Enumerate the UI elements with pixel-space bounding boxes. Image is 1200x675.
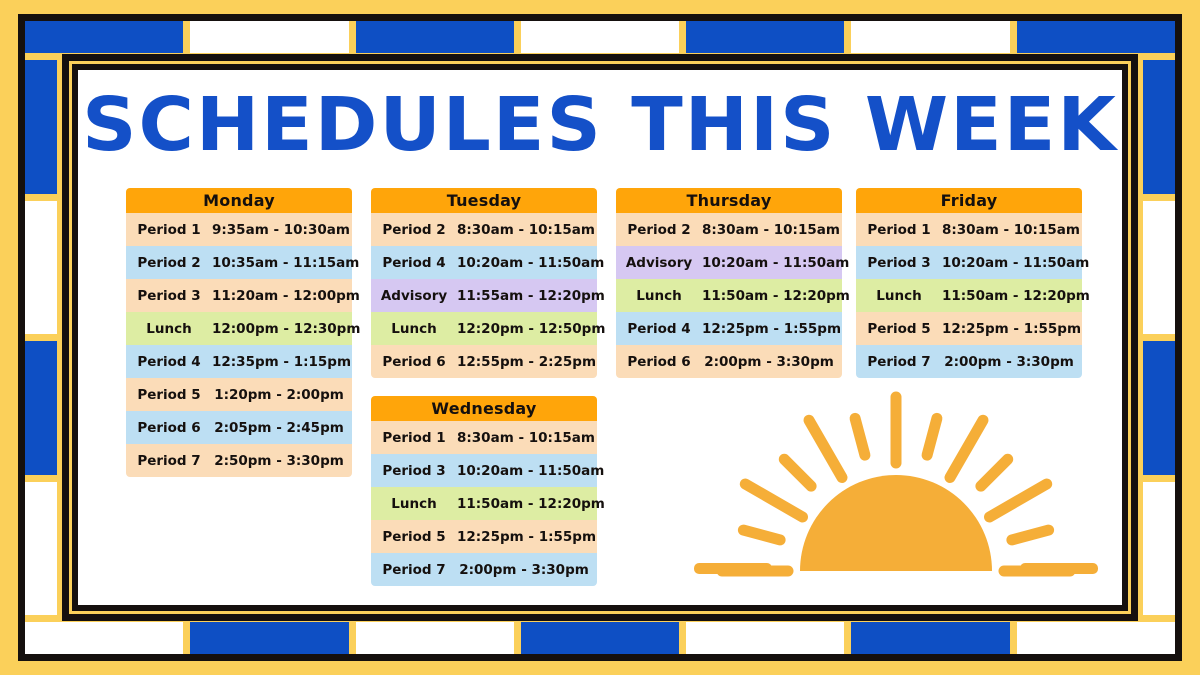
frame-segment-right-2 <box>1143 341 1175 475</box>
frame-segment-top-0 <box>25 21 183 53</box>
schedule-row: Advisory10:20am - 11:50am <box>616 246 842 279</box>
frame-segment-left-0 <box>25 60 57 194</box>
frame-segment-bottom-2 <box>356 622 514 654</box>
schedule-row: Lunch12:20pm - 12:50pm <box>371 312 597 345</box>
period-time: 11:55am - 12:20pm <box>457 288 611 304</box>
period-time: 2:00pm - 3:30pm <box>942 354 1082 370</box>
period-label: Period 1 <box>371 430 457 446</box>
period-label: Period 6 <box>616 354 702 370</box>
schedule-row: Period 18:30am - 10:15am <box>856 213 1082 246</box>
column-header-monday: Monday <box>126 188 352 213</box>
period-time: 10:20am - 11:50am <box>942 255 1095 271</box>
schedule-column-friday: FridayPeriod 18:30am - 10:15amPeriod 310… <box>856 188 1082 378</box>
period-label: Period 5 <box>371 529 457 545</box>
period-label: Period 3 <box>371 463 457 479</box>
period-time: 12:25pm - 1:55pm <box>457 529 602 545</box>
period-label: Lunch <box>371 321 457 337</box>
period-time: 10:20am - 11:50am <box>702 255 855 271</box>
period-time: 9:35am - 10:30am <box>212 222 356 238</box>
schedule-row: Period 72:00pm - 3:30pm <box>856 345 1082 378</box>
frame-segment-left-2 <box>25 341 57 475</box>
schedule-row: Period 18:30am - 10:15am <box>371 421 597 454</box>
schedule-row: Period 72:00pm - 3:30pm <box>371 553 597 586</box>
period-label: Period 5 <box>856 321 942 337</box>
frame-segment-top-5 <box>851 21 1009 53</box>
schedule-column-monday: MondayPeriod 19:35am - 10:30amPeriod 210… <box>126 188 352 477</box>
schedule-row: Period 612:55pm - 2:25pm <box>371 345 597 378</box>
period-label: Period 7 <box>126 453 212 469</box>
period-time: 11:20am - 12:00pm <box>212 288 366 304</box>
period-time: 11:50am - 12:20pm <box>457 496 611 512</box>
frame-segment-bottom-0 <box>25 622 183 654</box>
schedule-row: Period 28:30am - 10:15am <box>371 213 597 246</box>
period-label: Period 2 <box>371 222 457 238</box>
frame-segment-bottom-6 <box>1017 622 1175 654</box>
period-time: 2:05pm - 2:45pm <box>212 420 352 436</box>
column-header-tuesday: Tuesday <box>371 188 597 213</box>
period-time: 1:20pm - 2:00pm <box>212 387 352 403</box>
period-label: Period 2 <box>616 222 702 238</box>
period-time: 12:35pm - 1:15pm <box>212 354 357 370</box>
schedule-row: Period 512:25pm - 1:55pm <box>371 520 597 553</box>
period-time: 2:50pm - 3:30pm <box>212 453 352 469</box>
schedule-row: Advisory11:55am - 12:20pm <box>371 279 597 312</box>
period-time: 12:20pm - 12:50pm <box>457 321 611 337</box>
frame-segment-top-2 <box>356 21 514 53</box>
frame-segment-right-3 <box>1143 482 1175 616</box>
column-header-friday: Friday <box>856 188 1082 213</box>
period-time: 12:55pm - 2:25pm <box>457 354 602 370</box>
period-time: 12:25pm - 1:55pm <box>702 321 847 337</box>
period-label: Lunch <box>616 288 702 304</box>
period-time: 8:30am - 10:15am <box>457 222 601 238</box>
schedule-row: Period 51:20pm - 2:00pm <box>126 378 352 411</box>
period-label: Period 2 <box>126 255 212 271</box>
period-label: Period 1 <box>856 222 942 238</box>
period-label: Period 1 <box>126 222 212 238</box>
period-label: Lunch <box>856 288 942 304</box>
period-label: Period 7 <box>371 562 457 578</box>
frame-segment-top-4 <box>686 21 844 53</box>
period-label: Advisory <box>616 255 702 271</box>
period-label: Period 5 <box>126 387 212 403</box>
schedule-row: Period 310:20am - 11:50am <box>371 454 597 487</box>
column-header-wednesday: Wednesday <box>371 396 597 421</box>
period-time: 12:25pm - 1:55pm <box>942 321 1087 337</box>
schedule-row: Period 310:20am - 11:50am <box>856 246 1082 279</box>
frame-segment-top-1 <box>190 21 348 53</box>
period-label: Period 6 <box>371 354 457 370</box>
period-label: Period 4 <box>371 255 457 271</box>
schedule-row: Lunch11:50am - 12:20pm <box>856 279 1082 312</box>
period-time: 11:50am - 12:20pm <box>942 288 1096 304</box>
period-label: Period 4 <box>126 354 212 370</box>
frame-segment-bottom-5 <box>851 622 1009 654</box>
period-label: Advisory <box>371 288 457 304</box>
schedule-row: Lunch11:50am - 12:20pm <box>616 279 842 312</box>
schedule-board: MondayPeriod 19:35am - 10:30amPeriod 210… <box>126 188 1082 597</box>
poster-canvas: SCHEDULES THIS WEEK MondayPeriod 19:35am… <box>0 0 1200 675</box>
schedule-column-thursday: ThursdayPeriod 28:30am - 10:15amAdvisory… <box>616 188 842 378</box>
schedule-row: Period 210:35am - 11:15am <box>126 246 352 279</box>
period-time: 2:00pm - 3:30pm <box>457 562 597 578</box>
period-label: Lunch <box>126 321 212 337</box>
frame-segment-left-1 <box>25 201 57 335</box>
schedule-row: Period 62:00pm - 3:30pm <box>616 345 842 378</box>
period-time: 8:30am - 10:15am <box>942 222 1086 238</box>
schedule-row: Period 512:25pm - 1:55pm <box>856 312 1082 345</box>
schedule-row: Lunch12:00pm - 12:30pm <box>126 312 352 345</box>
frame-segment-bottom-1 <box>190 622 348 654</box>
period-time: 10:20am - 11:50am <box>457 463 610 479</box>
schedule-row: Period 412:25pm - 1:55pm <box>616 312 842 345</box>
period-time: 12:00pm - 12:30pm <box>212 321 366 337</box>
schedule-row: Lunch11:50am - 12:20pm <box>371 487 597 520</box>
schedule-row: Period 410:20am - 11:50am <box>371 246 597 279</box>
schedule-row: Period 62:05pm - 2:45pm <box>126 411 352 444</box>
schedule-row: Period 72:50pm - 3:30pm <box>126 444 352 477</box>
schedule-column-wednesday: WednesdayPeriod 18:30am - 10:15amPeriod … <box>371 396 597 586</box>
period-time: 10:35am - 11:15am <box>212 255 365 271</box>
schedule-row: Period 28:30am - 10:15am <box>616 213 842 246</box>
frame-segment-top-3 <box>521 21 679 53</box>
schedule-row: Period 311:20am - 12:00pm <box>126 279 352 312</box>
page-title: SCHEDULES THIS WEEK <box>72 86 1128 164</box>
period-label: Period 3 <box>856 255 942 271</box>
period-time: 8:30am - 10:15am <box>702 222 846 238</box>
period-time: 11:50am - 12:20pm <box>702 288 856 304</box>
frame-segment-top-6 <box>1017 21 1175 53</box>
period-label: Period 4 <box>616 321 702 337</box>
column-header-thursday: Thursday <box>616 188 842 213</box>
frame-segment-left-3 <box>25 482 57 616</box>
content-panel: SCHEDULES THIS WEEK MondayPeriod 19:35am… <box>72 64 1128 611</box>
schedule-row: Period 412:35pm - 1:15pm <box>126 345 352 378</box>
frame-segment-bottom-4 <box>686 622 844 654</box>
frame-segment-bottom-3 <box>521 622 679 654</box>
schedule-column-tuesday: TuesdayPeriod 28:30am - 10:15amPeriod 41… <box>371 188 597 378</box>
period-label: Lunch <box>371 496 457 512</box>
period-time: 8:30am - 10:15am <box>457 430 601 446</box>
period-time: 2:00pm - 3:30pm <box>702 354 842 370</box>
frame-segment-right-0 <box>1143 60 1175 194</box>
frame-segment-right-1 <box>1143 201 1175 335</box>
period-label: Period 3 <box>126 288 212 304</box>
period-time: 10:20am - 11:50am <box>457 255 610 271</box>
schedule-row: Period 19:35am - 10:30am <box>126 213 352 246</box>
period-label: Period 7 <box>856 354 942 370</box>
period-label: Period 6 <box>126 420 212 436</box>
